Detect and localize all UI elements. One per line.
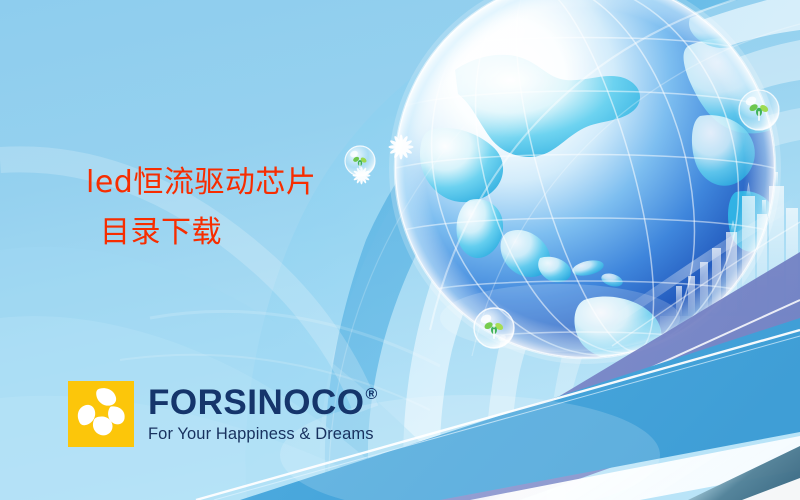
bubble-pinwheel-icon — [738, 89, 780, 131]
arc-line-group — [329, 0, 800, 500]
cityscape-skyline-icon — [676, 172, 798, 316]
logo-tagline: For Your Happiness & Dreams — [148, 426, 378, 443]
logo-wordmark: FORSINOCO® For Your Happiness & Dreams — [148, 385, 378, 443]
sparkle-starburst-icon — [388, 134, 414, 160]
logo-company-name-text: FORSINOCO — [148, 385, 364, 420]
headline-line-1: led恒流驱动芯片 — [86, 163, 316, 203]
brand-logo[interactable]: FORSINOCO® For Your Happiness & Dreams — [68, 381, 378, 447]
headline-line-2: 目录下载 — [100, 213, 316, 253]
registered-trademark-icon: ® — [365, 387, 377, 403]
headline-text: led恒流驱动芯片 目录下载 — [86, 163, 316, 253]
logo-company-name: FORSINOCO® — [148, 385, 378, 420]
bubble-pinwheel-icon — [344, 145, 376, 177]
promo-banner: led恒流驱动芯片 目录下载 FORSINOCO® — [0, 0, 800, 500]
sparkle-starburst-icon — [352, 166, 371, 185]
bubble-pinwheel-icon — [473, 307, 515, 349]
diagonal-band-group — [196, 252, 800, 500]
globe-earth-icon — [330, 0, 800, 403]
pinwheel-flower-icon — [68, 381, 134, 447]
